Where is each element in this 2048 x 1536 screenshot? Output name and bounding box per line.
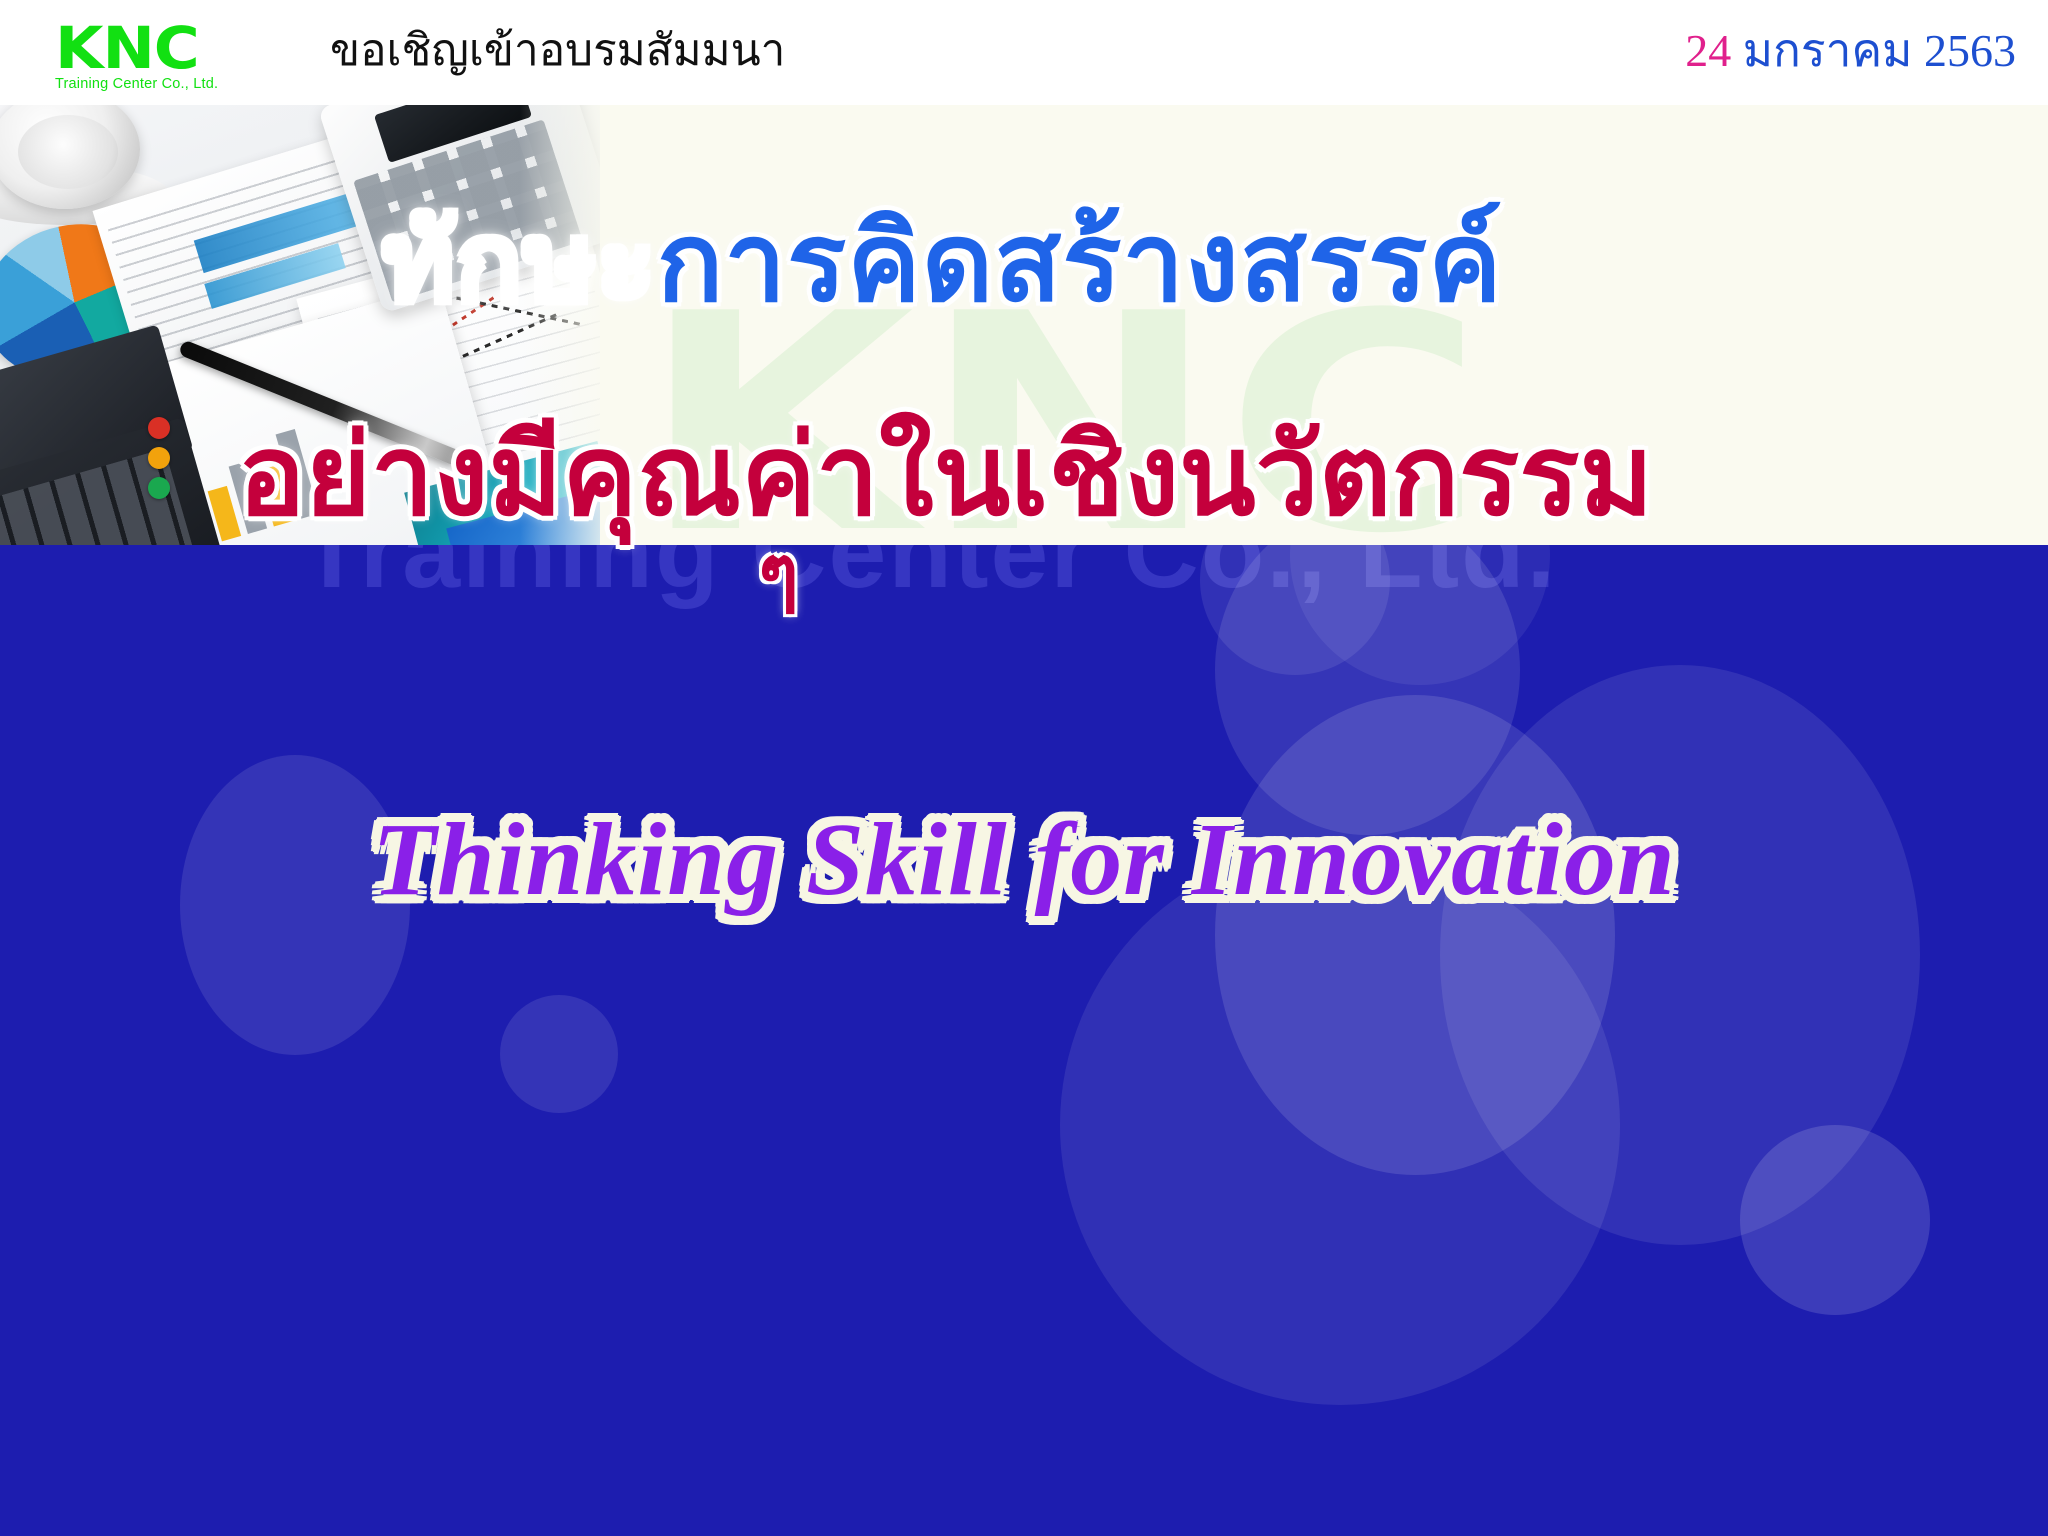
decor-circle: [1290, 545, 1550, 685]
decor-circle: [1215, 695, 1615, 1175]
english-title: Thinking Skill for Innovation: [0, 785, 2048, 935]
event-date: 24 มกราคม 2563: [1685, 20, 2016, 82]
photo-coffee-cup-inner: [18, 115, 118, 189]
decor-circle: [1740, 1125, 1930, 1315]
thai-title-line-1-blue: การคิดสร้างสรรค์: [657, 201, 1503, 324]
event-date-day: 24: [1685, 25, 1731, 76]
photo-yellow-dot: [148, 447, 170, 469]
decor-circle: [500, 995, 618, 1113]
thai-title-repeat-mark: ๆ: [758, 528, 799, 620]
thai-title-line-2: อย่างมีคุณค่าในเชิงนวัตกรรม: [238, 400, 1653, 552]
blue-panel: Training Center Co., Ltd.: [0, 545, 2048, 1536]
invitation-text: ขอเชิญเข้าอบรมสัมมนา: [330, 20, 785, 82]
knc-logo-mark: KNC: [55, 22, 314, 74]
photo-red-dot: [148, 417, 170, 439]
photo-green-dot: [148, 477, 170, 499]
event-date-month-year: มกราคม 2563: [1731, 25, 2016, 76]
watermark-subtitle: Training Center Co., Ltd.: [300, 545, 1558, 607]
thai-title-line-1: ทักษะการคิดสร้างสรรค์: [382, 188, 1503, 338]
knc-logo[interactable]: KNC Training Center Co., Ltd.: [55, 22, 295, 94]
poster-root: KNC Training Center Co., Ltd. ขอเชิญเข้า…: [0, 0, 2048, 1536]
decor-circle: [1440, 665, 1920, 1245]
thai-title-line-1-white: ทักษะ: [382, 201, 657, 324]
header-bar: KNC Training Center Co., Ltd. ขอเชิญเข้า…: [0, 0, 2048, 105]
decor-circle: [1200, 545, 1390, 675]
